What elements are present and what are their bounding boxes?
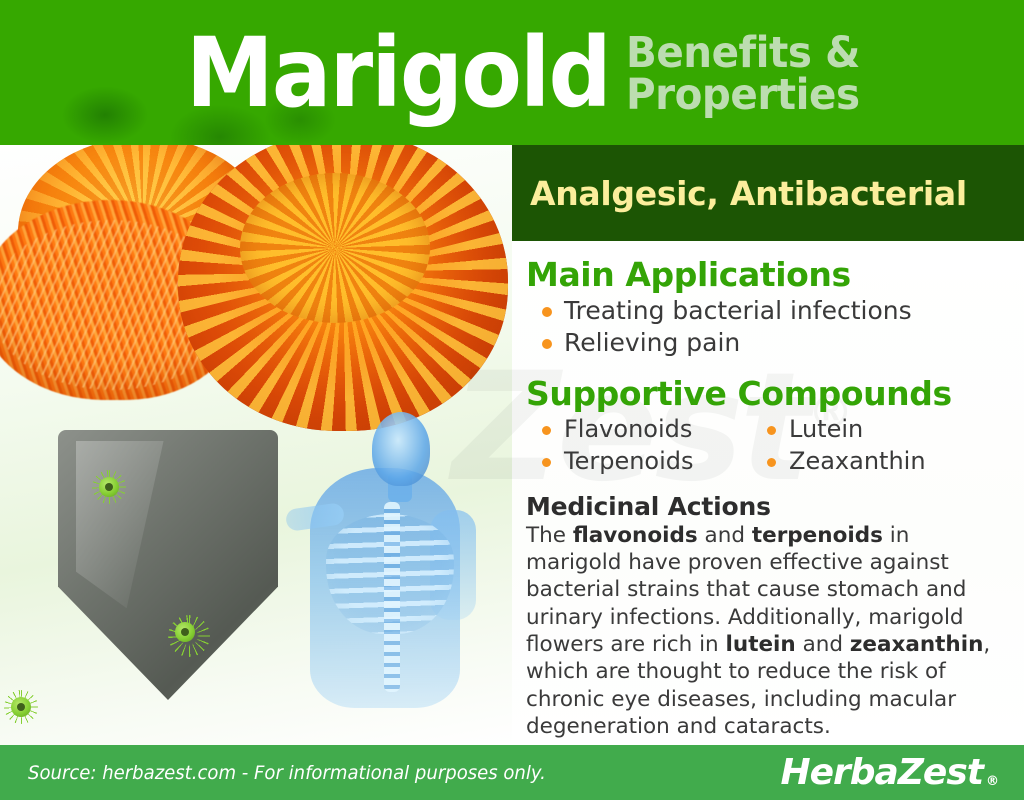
header-banner: Marigold Benefits & Properties xyxy=(0,0,1024,145)
properties-text: Analgesic, Antibacterial xyxy=(530,174,967,213)
shield-body xyxy=(58,430,278,700)
main-applications-heading: Main Applications xyxy=(526,257,1016,294)
list-item: Zeaxanthin xyxy=(767,446,1016,478)
virus-core xyxy=(11,697,31,717)
supportive-compounds-section: Supportive Compounds Flavonoids Lutein T… xyxy=(526,376,1016,478)
xray-anatomy-image xyxy=(280,410,480,710)
supportive-compounds-list: Flavonoids Lutein Terpenoids Zeaxanthin xyxy=(526,414,1016,478)
list-item: Lutein xyxy=(767,414,1016,446)
main-applications-section: Main Applications Treating bacterial inf… xyxy=(526,257,1016,360)
xray-skull xyxy=(372,412,430,486)
herbazest-logo-text: HerbaZest xyxy=(780,752,983,793)
footer-source-text: Source: herbazest.com - For informationa… xyxy=(28,762,546,784)
list-item: Terpenoids xyxy=(542,446,767,478)
content-panel: Zest® Main Applications Treating bacteri… xyxy=(512,241,1024,745)
supportive-compounds-heading: Supportive Compounds xyxy=(526,376,1016,413)
illustration-panel xyxy=(0,145,512,745)
virus-core xyxy=(99,477,119,497)
page-title: Marigold xyxy=(186,25,610,121)
xray-spine xyxy=(384,502,400,692)
medicinal-actions-heading: Medicinal Actions xyxy=(526,492,1016,521)
shield-icon xyxy=(58,430,278,700)
virus-core xyxy=(175,622,195,642)
infographic-root: Marigold Benefits & Properties xyxy=(0,0,1024,800)
main-applications-list: Treating bacterial infections Relieving … xyxy=(526,295,1016,360)
registered-mark: ® xyxy=(986,774,998,789)
marigold-flower-main-image xyxy=(178,145,508,431)
shield-gloss xyxy=(76,441,164,608)
list-item: Treating bacterial infections xyxy=(542,295,1016,328)
virus-icon xyxy=(168,615,210,657)
properties-bar: Analgesic, Antibacterial xyxy=(512,145,1024,241)
medicinal-actions-paragraph: The flavonoids and terpenoids in marigol… xyxy=(526,522,1006,740)
medicinal-actions-section: Medicinal Actions The flavonoids and ter… xyxy=(526,492,1016,740)
header-subtitle-line1: Benefits & xyxy=(626,33,860,74)
header-subtitle-line2: Properties xyxy=(626,75,860,116)
footer-bar: Source: herbazest.com - For informationa… xyxy=(0,745,1024,800)
header-subtitle: Benefits & Properties xyxy=(626,33,860,116)
list-item: Flavonoids xyxy=(542,414,767,446)
virus-icon xyxy=(4,690,38,724)
virus-icon xyxy=(92,470,126,504)
herbazest-logo: HerbaZest ® xyxy=(780,752,998,793)
list-item: Relieving pain xyxy=(542,327,1016,360)
header-title-group: Marigold Benefits & Properties xyxy=(0,0,1024,145)
